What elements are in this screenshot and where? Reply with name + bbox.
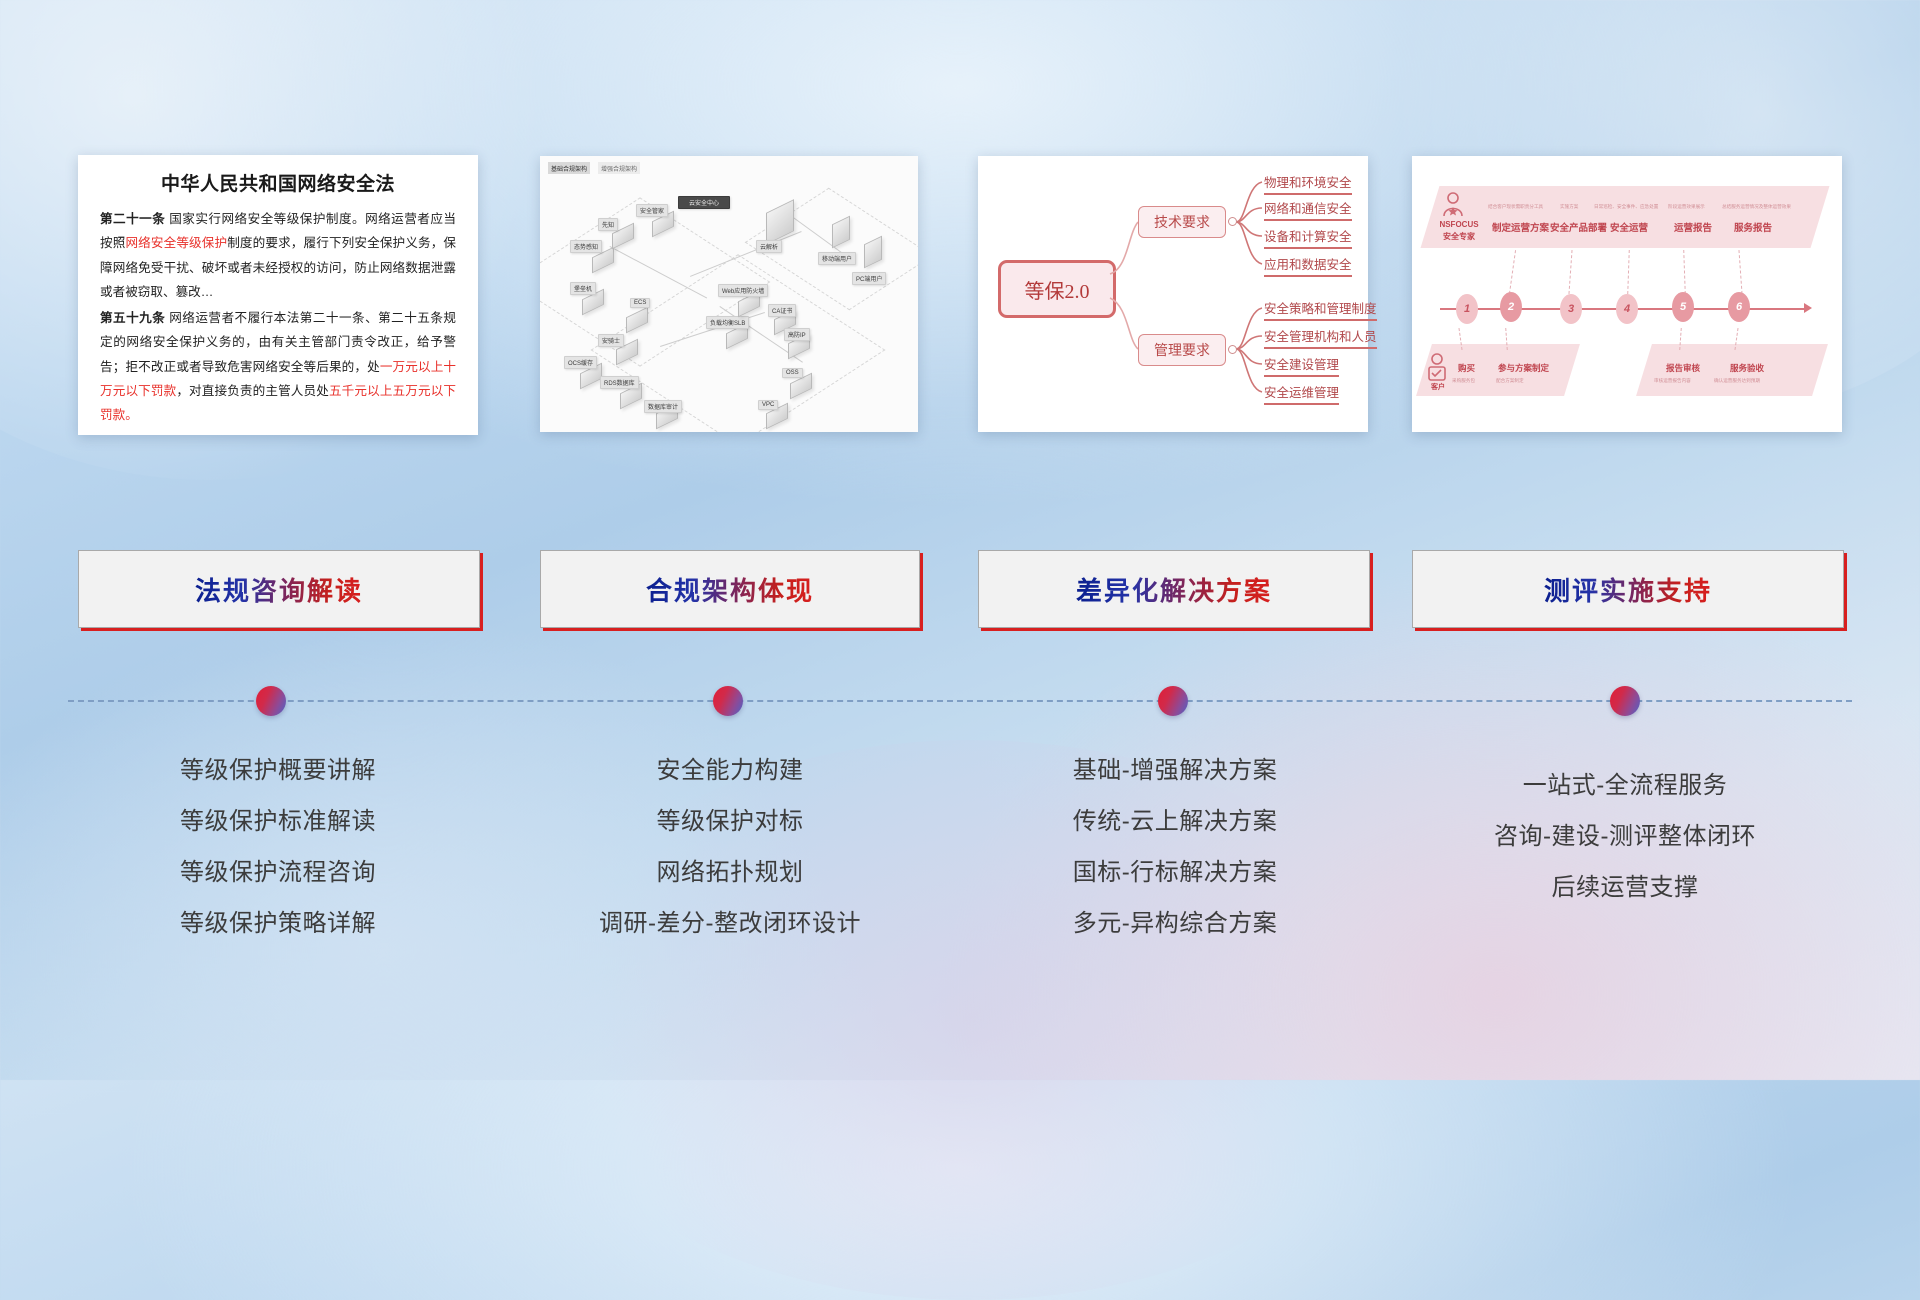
list-item: 调研-差分-整改闭环设计	[530, 898, 930, 949]
card-architecture-diagram[interactable]: 基础合规架构 增强合规架构 云安全中心 态势感知 先知 安全管家 堡垒机 ECS	[540, 156, 918, 432]
architecture-node-mobile-user[interactable]: 移动端用户	[818, 252, 856, 265]
pill-button-regulation-consulting[interactable]: 法规咨询解读	[78, 550, 480, 628]
client-step-review[interactable]: 报告审核	[1666, 362, 1700, 374]
law-article-21: 第二十一条 国家实行网络安全等级保护制度。网络运营者应当按照网络安全等级保护制度…	[100, 207, 456, 304]
timeline-node-3[interactable]: 3	[1560, 294, 1582, 324]
list-item: 网络拓扑规划	[530, 847, 930, 898]
architecture-node-guanjia[interactable]: 安全管家	[636, 204, 668, 217]
pill-label-3: 差异化解决方案	[1076, 571, 1272, 608]
mindmap-collapse-dot-technical[interactable]	[1228, 217, 1237, 226]
list-item: 国标-行标解决方案	[975, 847, 1375, 898]
timeline-marker-4[interactable]	[1610, 686, 1640, 716]
timeline-canvas: NSFOCUS 安全专家 结合客户现状需职责分工具 制定运营方案 实施方案 安全…	[1412, 156, 1842, 432]
timeline-step6-label[interactable]: 服务报告	[1734, 220, 1772, 234]
timeline-step3-label[interactable]: 安全产品部署	[1550, 220, 1607, 234]
pill-button-assessment-support[interactable]: 测评实施支持	[1412, 550, 1844, 628]
feature-column-4: 一站式-全流程服务 咨询-建设-测评整体闭环 后续运营支撑	[1405, 760, 1845, 913]
mindmap-leaf-operations[interactable]: 安全运维管理	[1264, 382, 1339, 405]
timeline-step5-sub: 阶段运营效果展示	[1668, 204, 1705, 210]
architecture-tab-basic[interactable]: 基础合规架构	[548, 162, 590, 174]
timeline-step3-sub: 实施方案	[1560, 204, 1578, 210]
mindmap-leaf-physical[interactable]: 物理和环境安全	[1264, 172, 1352, 195]
mindmap-canvas: 等保2.0 技术要求 物理和环境安全 网络和通信安全 设备和计算安全 应用和数据…	[978, 156, 1368, 432]
timeline-step2-sub: 结合客户现状需职责分工具	[1488, 204, 1543, 210]
law-title: 中华人民共和国网络安全法	[100, 169, 456, 196]
mindmap-leaf-policy[interactable]: 安全策略和管理制度	[1264, 298, 1377, 321]
timeline-step4-label[interactable]: 安全运营	[1610, 220, 1648, 234]
timeline-tick-2	[1509, 250, 1516, 294]
client-step-acceptance-sub: 确认运营服务达到预期	[1714, 378, 1760, 384]
timeline-marker-1[interactable]	[256, 686, 286, 716]
list-item: 等级保护对标	[530, 796, 930, 847]
timeline-tick-3	[1568, 250, 1572, 294]
feature-list-1: 等级保护概要讲解 等级保护标准解读 等级保护流程咨询 等级保护策略详解	[78, 745, 478, 949]
mindmap-leaf-org[interactable]: 安全管理机构和人员	[1264, 326, 1377, 349]
mindmap-leaf-application[interactable]: 应用和数据安全	[1264, 254, 1352, 277]
pill-button-compliance-architecture[interactable]: 合规架构体现	[540, 550, 920, 628]
timeline-axis-arrow-icon	[1804, 303, 1812, 313]
pill-button-row: 法规咨询解读 合规架构体现 差异化解决方案 测评实施支持	[0, 550, 1920, 640]
timeline-step5-label[interactable]: 运营报告	[1674, 220, 1712, 234]
client-step-acceptance[interactable]: 服务验收	[1730, 362, 1764, 374]
timeline-dashed-line	[68, 700, 1852, 702]
article-21-label: 第二十一条	[100, 212, 165, 226]
timeline-node-5[interactable]: 5	[1672, 292, 1694, 322]
mindmap-branch-management[interactable]: 管理要求	[1138, 334, 1226, 366]
timeline-step4-sub: 日常巡检、安全事件、应急处置	[1594, 204, 1658, 210]
client-step-participate-sub: 配合方案制定	[1496, 378, 1524, 384]
client-role-label: 客户	[1420, 384, 1456, 393]
architecture-node-vpc[interactable]: VPC	[758, 400, 778, 410]
architecture-node-rds[interactable]: RDS数据库	[600, 376, 639, 389]
feature-column-3: 基础-增强解决方案 传统-云上解决方案 国标-行标解决方案 多元-异构综合方案	[975, 745, 1375, 949]
timeline-node-4[interactable]: 4	[1616, 294, 1638, 324]
timeline-tick-4	[1627, 250, 1630, 294]
architecture-node-ocs[interactable]: OCS缓存	[564, 356, 597, 369]
law-article-59: 第五十九条 网络运营者不履行本法第二十一条、第二十五条规定的网络安全保护义务的，…	[100, 306, 456, 427]
architecture-node-pc-user[interactable]: PC端用户	[852, 272, 886, 285]
list-item: 一站式-全流程服务	[1405, 760, 1845, 811]
expert-avatar-icon	[1438, 190, 1468, 220]
architecture-node-db-audit[interactable]: 数据库审计	[644, 400, 682, 413]
list-item: 传统-云上解决方案	[975, 796, 1375, 847]
client-avatar-icon	[1424, 352, 1450, 382]
list-item: 等级保护概要讲解	[78, 745, 478, 796]
pill-label-4: 测评实施支持	[1544, 571, 1712, 608]
feature-column-1: 等级保护概要讲解 等级保护标准解读 等级保护流程咨询 等级保护策略详解	[78, 745, 478, 949]
feature-list-3: 基础-增强解决方案 传统-云上解决方案 国标-行标解决方案 多元-异构综合方案	[975, 745, 1375, 949]
timeline-step6-sub: 总结服务运营情况及整体运营效果	[1722, 204, 1791, 210]
article-21-highlight: 网络安全等级保护	[125, 236, 227, 250]
timeline-node-6[interactable]: 6	[1728, 292, 1750, 322]
architecture-node-anqishi[interactable]: 安骑士	[598, 334, 624, 347]
card-law-document[interactable]: 中华人民共和国网络安全法 第二十一条 国家实行网络安全等级保护制度。网络运营者应…	[78, 155, 478, 435]
cards-row: 中华人民共和国网络安全法 第二十一条 国家实行网络安全等级保护制度。网络运营者应…	[0, 148, 1920, 438]
feature-list-4: 一站式-全流程服务 咨询-建设-测评整体闭环 后续运营支撑	[1405, 760, 1845, 913]
mindmap-leaf-device[interactable]: 设备和计算安全	[1264, 226, 1352, 249]
list-item: 多元-异构综合方案	[975, 898, 1375, 949]
mindmap-collapse-dot-management[interactable]	[1228, 345, 1237, 354]
timeline-node-2[interactable]: 2	[1500, 292, 1522, 322]
list-item: 等级保护标准解读	[78, 796, 478, 847]
mindmap-branch-technical[interactable]: 技术要求	[1138, 206, 1226, 238]
architecture-tabs: 基础合规架构 增强合规架构	[548, 162, 640, 174]
architecture-node-ecs[interactable]: ECS	[630, 298, 650, 308]
article-59-text-b: ，对直接负责的主管人员处	[176, 384, 329, 398]
list-item: 后续运营支撑	[1405, 862, 1845, 913]
architecture-node-xianzhi[interactable]: 先知	[598, 218, 618, 231]
client-step-review-sub: 审核运营报告内容	[1654, 378, 1691, 384]
architecture-tab-enhanced[interactable]: 增强合规架构	[598, 162, 640, 174]
timeline-tick-5	[1683, 250, 1686, 294]
client-step-purchase-sub: 采购服务包	[1452, 378, 1475, 384]
article-59-label: 第五十九条	[100, 311, 165, 325]
feature-list-2: 安全能力构建 等级保护对标 网络拓扑规划 调研-差分-整改闭环设计	[530, 745, 930, 949]
architecture-node-cloud-center[interactable]: 云安全中心	[678, 196, 730, 209]
architecture-canvas: 基础合规架构 增强合规架构 云安全中心 态势感知 先知 安全管家 堡垒机 ECS	[540, 156, 918, 432]
timeline-marker-3[interactable]	[1158, 686, 1188, 716]
architecture-node-ca[interactable]: CA证书	[768, 304, 796, 317]
client-step-purchase[interactable]: 购买	[1458, 362, 1475, 374]
card-mindmap[interactable]: 等保2.0 技术要求 物理和环境安全 网络和通信安全 设备和计算安全 应用和数据…	[978, 156, 1368, 432]
architecture-node-bastion[interactable]: 堡垒机	[570, 282, 596, 295]
pill-label-1: 法规咨询解读	[195, 571, 363, 608]
timeline-expert-role: 安全专家	[1434, 232, 1484, 242]
feature-column-2: 安全能力构建 等级保护对标 网络拓扑规划 调研-差分-整改闭环设计	[530, 745, 930, 949]
timeline-tick-6	[1738, 250, 1742, 294]
mindmap-leaf-construction[interactable]: 安全建设管理	[1264, 354, 1339, 377]
law-body: 中华人民共和国网络安全法 第二十一条 国家实行网络安全等级保护制度。网络运营者应…	[78, 155, 478, 435]
list-item: 等级保护策略详解	[78, 898, 478, 949]
architecture-node-anti-ddos[interactable]: 高防IP	[784, 328, 810, 341]
feature-columns: 等级保护概要讲解 等级保护标准解读 等级保护流程咨询 等级保护策略详解 安全能力…	[0, 745, 1920, 975]
mindmap-root-node[interactable]: 等保2.0	[998, 260, 1116, 318]
list-item: 咨询-建设-测评整体闭环	[1405, 811, 1845, 862]
architecture-node-waf[interactable]: Web应用防火墙	[718, 284, 768, 297]
mindmap-leaf-network[interactable]: 网络和通信安全	[1264, 198, 1352, 221]
timeline-node-1[interactable]: 1	[1456, 294, 1478, 324]
architecture-node-oss[interactable]: OSS	[782, 368, 803, 378]
progress-timeline	[0, 684, 1920, 734]
architecture-node-dns[interactable]: 云解析	[756, 240, 782, 253]
list-item: 安全能力构建	[530, 745, 930, 796]
architecture-node-situational[interactable]: 态势感知	[570, 240, 602, 253]
timeline-step2-label[interactable]: 制定运营方案	[1492, 220, 1549, 234]
architecture-node-slb[interactable]: 负载均衡SLB	[706, 316, 749, 329]
timeline-tick-client-2	[1505, 328, 1508, 350]
client-step-participate[interactable]: 参与方案制定	[1498, 362, 1549, 374]
timeline-marker-2[interactable]	[713, 686, 743, 716]
list-item: 基础-增强解决方案	[975, 745, 1375, 796]
card-service-timeline[interactable]: NSFOCUS 安全专家 结合客户现状需职责分工具 制定运营方案 实施方案 安全…	[1412, 156, 1842, 432]
pill-label-2: 合规架构体现	[646, 571, 814, 608]
pill-button-differentiated-solution[interactable]: 差异化解决方案	[978, 550, 1370, 628]
list-item: 等级保护流程咨询	[78, 847, 478, 898]
timeline-expert-name: NSFOCUS	[1434, 220, 1484, 230]
